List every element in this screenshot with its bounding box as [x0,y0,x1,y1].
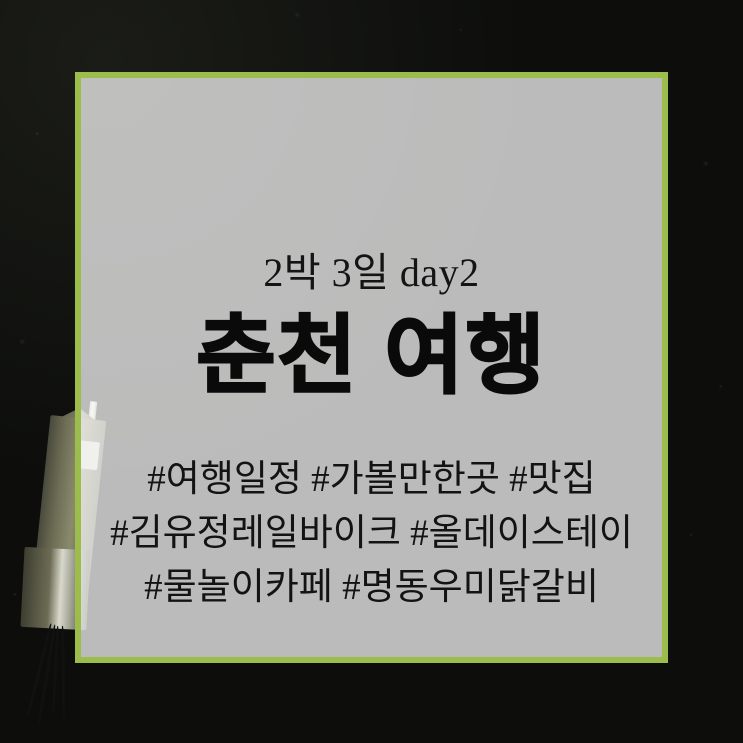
thumbnail-canvas: 2박 3일 day2 춘천 여행 #여행일정 #가볼만한곳 #맛집 #김유정레일… [0,0,743,743]
page-title: 춘천 여행 [196,311,546,401]
text-overlay-panel: 2박 3일 day2 춘천 여행 #여행일정 #가볼만한곳 #맛집 #김유정레일… [75,72,668,663]
hashtag-line: #김유정레일바이크 #올데이스테이 [110,507,633,561]
hashtag-block: #여행일정 #가볼만한곳 #맛집 #김유정레일바이크 #올데이스테이 #물놀이카… [110,453,633,614]
hashtag-line: #여행일정 #가볼만한곳 #맛집 [110,453,633,507]
subtitle: 2박 3일 day2 [263,253,479,293]
hashtag-line: #물놀이카페 #명동우미닭갈비 [110,561,633,615]
